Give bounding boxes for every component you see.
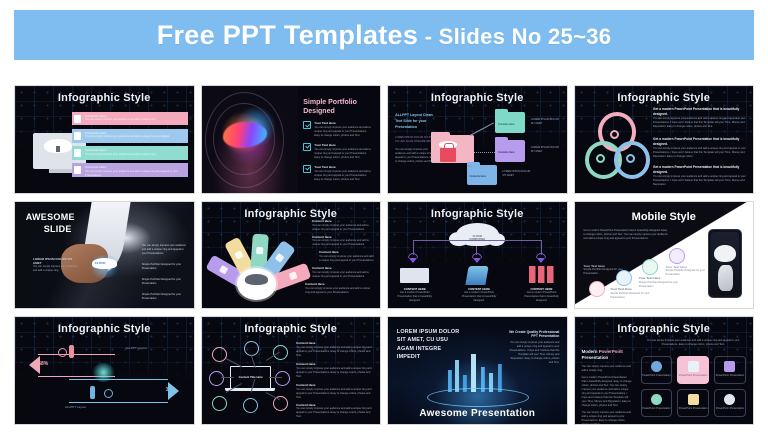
page-title-sub: - Slides No 25~36 xyxy=(418,24,611,49)
check-icon xyxy=(303,121,311,129)
monitor-icon xyxy=(74,115,81,123)
slide-thumbnail-12[interactable]: Infographic Style Modern PowerPointPrese… xyxy=(574,316,755,425)
step-body: Simple Portfolio Designed for your Prese… xyxy=(610,292,652,300)
card-gear[interactable]: PowerPoint Presentation xyxy=(714,389,746,417)
slide-title: Mobile Style xyxy=(575,211,754,223)
banner-row: Contents HereYou can simply impress your… xyxy=(72,129,188,143)
item-body: You can simply impress your audience and… xyxy=(653,117,748,129)
slide-thumbnail-4[interactable]: Infographic Style Get a modern PowerPoin… xyxy=(574,85,755,194)
wifi-icon xyxy=(408,253,418,263)
node-settings-icon xyxy=(243,398,258,413)
card-globe[interactable]: PowerPoint Presentation xyxy=(641,356,673,384)
node-gear-icon xyxy=(273,345,288,360)
list-item: Your Text HereYou can simply impress you… xyxy=(303,165,373,182)
portfolio-image xyxy=(202,86,298,193)
portfolio-text-block: Simple Portfolio Designed Your Text Here… xyxy=(303,99,373,182)
cloud-download-icon xyxy=(44,139,73,153)
node-lock-icon xyxy=(212,396,227,411)
slide-thumbnail-9[interactable]: Infographic Style 58% 32% ALLPPT Layout … xyxy=(14,316,195,425)
fan-text-block: Content Here You can simply impress your… xyxy=(312,219,375,295)
connector-line xyxy=(474,152,495,153)
smartphone-icon xyxy=(74,166,81,174)
folder-icon: Contents Here xyxy=(495,140,525,161)
laptop-icon xyxy=(74,132,81,140)
card-label: PowerPoint Presentation xyxy=(716,407,745,411)
top-note: You can simply impress your audience and… xyxy=(641,339,746,347)
card-label: PowerPoint Presentation xyxy=(679,407,708,411)
title-line-2: SLIDE xyxy=(44,223,72,235)
lead-heading: Modern PowerPointPresentation xyxy=(582,349,632,361)
recycle-icon xyxy=(651,394,662,405)
sub-body: You can simply impress your audience and… xyxy=(33,265,79,273)
image-icon xyxy=(275,252,285,262)
card-qr[interactable]: PowerPoint Presentation xyxy=(677,356,709,384)
gear-icon xyxy=(219,265,229,275)
check-icon xyxy=(303,143,311,151)
right-text-block: You can simply impress your audience and… xyxy=(142,244,188,301)
lead-body-1: You can simply impress your audience and… xyxy=(582,365,632,373)
item-body: You can simply impress your audience and… xyxy=(296,388,375,400)
card-label: PowerPoint Presentation xyxy=(642,374,671,378)
bar-body: You can simply impress your audience and… xyxy=(85,118,185,122)
slide-title: Infographic Style xyxy=(388,208,567,220)
left-percent-label: 58% xyxy=(38,361,48,367)
item-body: You can simply impress your audience and… xyxy=(314,148,373,160)
center-label: Content Title Here xyxy=(236,375,266,379)
cloud-label: CLOUD xyxy=(95,261,106,265)
card-box[interactable]: PowerPoint Presentation xyxy=(677,389,709,417)
item-body: You can simply impress your audience and… xyxy=(312,239,375,247)
slide-thumbnail-8[interactable]: Mobile Style Get a modern PowerPoint Pre… xyxy=(574,201,755,310)
item-body: You can simply impress your audience and… xyxy=(296,346,375,358)
right-percent-label: 32% xyxy=(166,387,176,393)
arrow-right xyxy=(69,379,180,402)
slide-title: Infographic Style xyxy=(15,323,194,335)
slide-thumbnail-7[interactable]: Infographic Style CLOUD COMPUTING CONTEN… xyxy=(387,201,568,310)
servers-icon xyxy=(529,266,554,283)
card-recycle[interactable]: PowerPoint Presentation xyxy=(641,389,673,417)
folder-caption: LOREM IPSUM DOLOR SIT AMET xyxy=(502,170,532,178)
item-label: You can simply impress your audience and… xyxy=(142,244,188,256)
gear-icon xyxy=(724,394,735,405)
card-puzzle[interactable]: PowerPoint Presentation xyxy=(714,356,746,384)
item-body: You can simply impress your audience and… xyxy=(296,367,375,379)
step-body: Simple Portfolio Designed for your Prese… xyxy=(583,268,625,276)
item-body: You can simply impress your audience and… xyxy=(296,407,375,419)
step-icon-1 xyxy=(589,281,605,297)
slide-thumbnail-2[interactable]: Simple Portfolio Designed Your Text Here… xyxy=(201,85,382,194)
step-body: Simple Portfolio Designed for your Prese… xyxy=(666,269,708,277)
subtitle-block: LOREM IPSUM DOLOR SIT AMET You can simpl… xyxy=(33,257,79,273)
glow-ring xyxy=(427,388,529,407)
slide-title: AWESOME SLIDE xyxy=(26,211,75,235)
node-cloud-icon xyxy=(212,347,227,362)
robot-arm-icon xyxy=(465,266,488,285)
node-rocket-icon xyxy=(209,371,224,386)
lead-heading: ALLPPT Layout Clean Text Slide for your … xyxy=(395,112,438,130)
right-body: You can simply impress your audience and… xyxy=(506,341,560,365)
bulb-icon xyxy=(256,246,263,253)
node-shield-icon xyxy=(273,396,288,411)
card-label: PowerPoint Presentation xyxy=(679,374,708,378)
title-line-1: AWESOME xyxy=(26,212,75,222)
monitor-stand xyxy=(49,169,72,173)
slide-thumbnail-10[interactable]: Infographic Style Content Title Here Con… xyxy=(201,316,382,425)
lead-text-block: Modern PowerPointPresentation You can si… xyxy=(582,349,632,425)
node-user-icon xyxy=(244,341,259,356)
bar-body: You can simply impress your audience and… xyxy=(85,170,185,178)
lead-text: Get a modern PowerPoint Presentation tha… xyxy=(583,229,669,241)
wifi-icon xyxy=(536,253,546,263)
lead-text: LOREM IPSUM DOLOR SIT AMET, CU USU AGAM … xyxy=(397,328,461,362)
slide-thumbnail-1[interactable]: Infographic Style Contents HereYou can s… xyxy=(14,85,195,194)
lead-body-2: Get a modern PowerPoint Presentation tha… xyxy=(582,376,632,408)
slide-title: Awesome Presentation xyxy=(388,408,567,419)
item-body: You can simply impress your audience and… xyxy=(653,175,748,187)
list-item: Your Text HereYou can simply impress you… xyxy=(303,143,373,160)
branch-body: Get a modern PowerPoint Presentation tha… xyxy=(458,291,501,303)
spoke-line xyxy=(221,377,233,378)
node-download-icon xyxy=(275,371,290,386)
tablet-icon xyxy=(74,149,81,157)
slide-title: Simple Portfolio Designed xyxy=(303,99,373,117)
step-body: Simple Portfolio Designed for your Prese… xyxy=(639,281,681,289)
page-root: Free PPT Templates - Slides No 25~36 Inf… xyxy=(0,0,768,435)
page-title: Free PPT Templates - Slides No 25~36 xyxy=(157,20,612,51)
cloud-icon: CLOUD xyxy=(92,258,117,269)
item-label: Get a modern PowerPoint Presentation tha… xyxy=(653,107,748,117)
right-text-block: We Create Quality Professional PPT Prese… xyxy=(506,330,560,365)
smartphone-cloud-hand-icon xyxy=(708,229,742,297)
sub-label: LOREM IPSUM DOLOR SIT AMET xyxy=(33,257,79,265)
card-grid: PowerPoint Presentation PowerPoint Prese… xyxy=(641,356,746,417)
folder-icon: Contents Here xyxy=(467,165,497,185)
banner-row: Contents HereYou can simply impress your… xyxy=(72,146,188,160)
slide-title: Infographic Style xyxy=(388,92,567,104)
item-body: You can simply impress your audience and… xyxy=(305,287,375,295)
person-icon xyxy=(69,345,74,358)
arrow-caption: ALLPPT Layout xyxy=(65,405,86,409)
box-icon xyxy=(688,394,699,405)
person-icon xyxy=(90,386,95,399)
item-body: You can simply impress your audience and… xyxy=(314,170,373,182)
slide-title: Infographic Style xyxy=(15,92,194,104)
hand-icon xyxy=(718,265,733,291)
slide-thumbnail-5[interactable]: CLOUD AWESOME SLIDE LOREM IPSUM DOLOR SI… xyxy=(14,201,195,310)
arrow-caption: ALLPPT Layout xyxy=(126,346,147,350)
item-body: You can simply impress your audience and… xyxy=(312,271,375,279)
slide-title: Infographic Style xyxy=(575,92,754,104)
folder-caption: LOREM IPSUM DOLOR SIT AMET xyxy=(531,146,561,154)
spoke-line xyxy=(269,377,281,378)
item-body: You can simply impress your audience and… xyxy=(314,126,373,138)
node-dot xyxy=(610,130,619,139)
page-title-main: Free PPT Templates xyxy=(157,20,419,50)
item-label: Simple Portfolio Designed for your Prese… xyxy=(142,263,188,271)
lead-body-3: You can simply impress your audience and… xyxy=(582,411,632,425)
card-label: PowerPoint Presentation xyxy=(642,407,671,411)
hub-label: CLOUD COMPUTING xyxy=(464,235,490,241)
slide-title: Infographic Style xyxy=(202,208,381,220)
list-item: Your Text HereYou can simply impress you… xyxy=(303,121,373,138)
slide-title: Infographic Style xyxy=(202,323,381,335)
banner-row: Contents HereYou can simply impress your… xyxy=(72,163,188,177)
puzzle-icon xyxy=(724,361,735,372)
item-body: You can simply impress your audience and… xyxy=(319,255,375,263)
slide-thumbnail-3[interactable]: Infographic Style ALLPPT Layout Clean Te… xyxy=(387,85,568,194)
chart-icon xyxy=(234,250,243,259)
target-icon xyxy=(104,389,113,398)
header-banner: Free PPT Templates - Slides No 25~36 xyxy=(14,10,754,60)
chat-icon xyxy=(289,271,298,280)
item-body: You can simply impress your audience and… xyxy=(312,224,375,232)
folder-caption: LOREM IPSUM DOLOR SIT AMET xyxy=(531,118,561,126)
right-heading: We Create Quality Professional PPT Prese… xyxy=(506,330,560,338)
globe-icon xyxy=(651,361,662,372)
cloud-icon: CLOUD COMPUTING xyxy=(456,223,499,246)
check-icon xyxy=(303,165,311,173)
item-label: Get a modern PowerPoint Presentation tha… xyxy=(653,137,748,147)
slide-thumbnail-6[interactable]: Infographic Style Content Here You can s… xyxy=(201,201,382,310)
item-label: Get a modern PowerPoint Presentation tha… xyxy=(653,165,748,175)
folder-icon: Contents Here xyxy=(495,112,525,133)
connector-line xyxy=(470,123,494,136)
laptop-icon xyxy=(400,268,429,283)
step-icon-4 xyxy=(669,248,685,264)
bar-body: You can simply impress your audience and… xyxy=(85,135,185,139)
slide-thumbnail-11[interactable]: LOREM IPSUM DOLOR SIT AMET, CU USU AGAM … xyxy=(387,316,568,425)
banner-row: Contents HereYou can simply impress your… xyxy=(72,112,188,126)
branch-body: Get a modern PowerPoint Presentation tha… xyxy=(520,291,563,303)
slide-grid: Infographic Style Contents HereYou can s… xyxy=(14,85,754,425)
card-label: PowerPoint Presentation xyxy=(716,374,745,378)
slide-title: Infographic Style xyxy=(575,323,754,335)
lock-icon xyxy=(440,148,456,162)
bar-body: You can simply impress your audience and… xyxy=(85,153,185,157)
cloud-icon xyxy=(714,245,736,262)
cloud-download-icon xyxy=(245,274,268,285)
item-label: Simple Portfolio Designed for your Prese… xyxy=(142,278,188,286)
qr-icon xyxy=(688,361,699,372)
wifi-icon xyxy=(472,253,482,263)
branch-body: Get a modern PowerPoint Presentation tha… xyxy=(393,291,436,303)
item-body: You can simply impress your audience and… xyxy=(653,147,748,159)
item-label: Simple Portfolio Designed for your Prese… xyxy=(142,293,188,301)
